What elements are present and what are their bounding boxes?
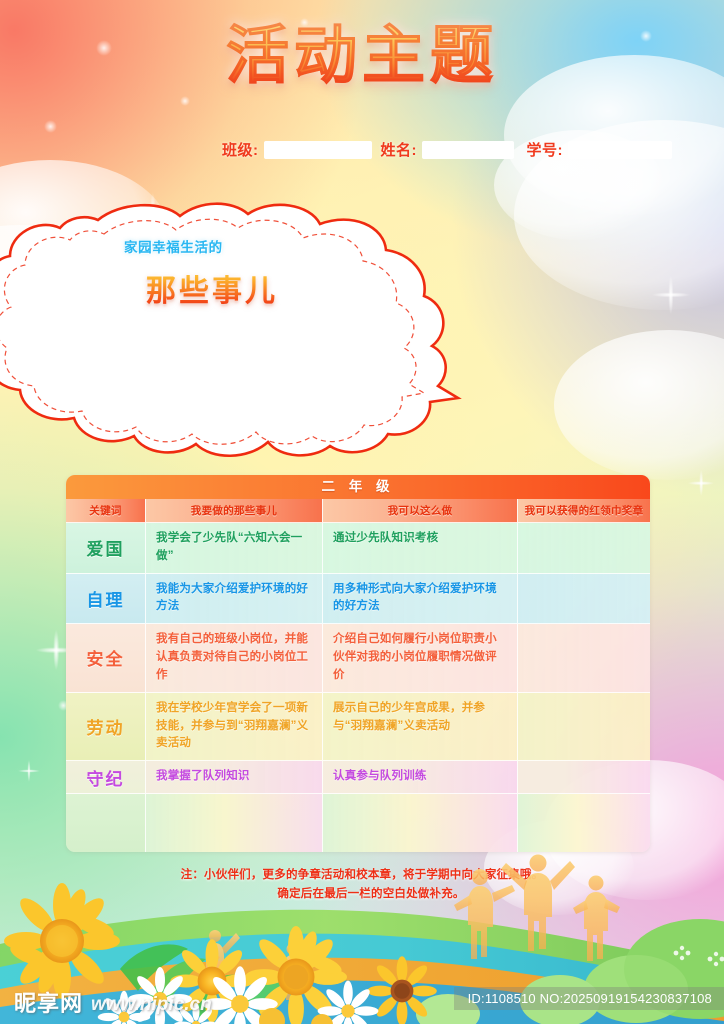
row-things-to-do[interactable] (146, 794, 323, 852)
row-badge[interactable] (518, 624, 650, 692)
bokeh-dot (180, 96, 190, 106)
row-how-to-do[interactable] (323, 794, 518, 852)
bubble-subtitle: 家园幸福生活的 (124, 236, 223, 256)
row-things-to-do: 我在学校少年宫学会了一项新技能，并参与到“羽翔嘉澜”义卖活动 (146, 693, 323, 761)
page-title: 活动主题 (226, 22, 498, 90)
sparkle-icon (652, 276, 690, 314)
name-input[interactable] (422, 141, 514, 159)
row-how-to-do: 介绍自己如何履行小岗位职责小伙伴对我的小岗位履职情况做评价 (323, 624, 518, 692)
class-input[interactable] (264, 141, 372, 159)
row-things-to-do: 我掌握了队列知识 (146, 761, 323, 794)
cloud-blob (554, 330, 724, 480)
col-header-badge: 我可以获得的红领巾奖章 (518, 499, 650, 523)
student-info-row: 班级: 姓名: 学号: (222, 139, 672, 160)
site-url: www.nipic.cn (91, 994, 212, 1016)
field-student-id: 学号: (527, 139, 673, 160)
watermark: 昵享网 www.nipic.cn (14, 986, 212, 1018)
row-badge[interactable] (518, 523, 650, 574)
cloud-shape (0, 198, 450, 458)
row-keyword: 劳动 (66, 693, 146, 761)
row-keyword: 爱国 (66, 523, 146, 574)
table-row: 守纪 我掌握了队列知识 认真参与队列训练 (66, 761, 650, 794)
student-id-input[interactable] (568, 141, 672, 159)
name-label: 姓名: (380, 139, 417, 160)
col-header-keyword: 关键词 (66, 499, 146, 523)
grade-table: 二 年 级 关键词 我要做的那些事儿 我可以这么做 我可以获得的红领巾奖章 爱国… (66, 475, 650, 852)
row-badge[interactable] (518, 693, 650, 761)
row-badge[interactable] (518, 574, 650, 625)
row-how-to-do: 用多种形式向大家介绍爱护环境的好方法 (323, 574, 518, 625)
field-name: 姓名: (380, 139, 514, 160)
row-how-to-do: 展示自己的少年宫成果，并参与“羽翔嘉澜”义卖活动 (323, 693, 518, 761)
row-how-to-do: 认真参与队列训练 (323, 761, 518, 794)
sparkle-icon (18, 760, 40, 782)
table-row-blank (66, 794, 650, 852)
field-class: 班级: (222, 139, 372, 160)
student-id-label: 学号: (527, 139, 564, 160)
col-header-how-to-do: 我可以这么做 (323, 499, 518, 523)
sunflower (4, 883, 120, 999)
table-row: 安全 我有自己的班级小岗位，并能认真负责对待自己的小岗位工作 介绍自己如何履行小… (66, 624, 650, 692)
table-title: 二 年 级 (66, 475, 650, 499)
table-header-row: 关键词 我要做的那些事儿 我可以这么做 我可以获得的红领巾奖章 (66, 499, 650, 523)
class-label: 班级: (222, 139, 259, 160)
bokeh-dot (44, 120, 57, 133)
sparkle-icon (688, 470, 714, 496)
row-keyword: 自理 (66, 574, 146, 625)
row-keyword: 守纪 (66, 761, 146, 794)
row-badge[interactable] (518, 794, 650, 852)
row-things-to-do: 我有自己的班级小岗位，并能认真负责对待自己的小岗位工作 (146, 624, 323, 692)
table-row: 劳动 我在学校少年宫学会了一项新技能，并参与到“羽翔嘉澜”义卖活动 展示自己的少… (66, 693, 650, 761)
row-keyword: 安全 (66, 624, 146, 692)
image-id-bar: ID:1108510 NO:20250919154230837108 (454, 987, 724, 1010)
poster-canvas: 活动主题 班级: 姓名: 学号: 家园幸福生活的 那些事儿 二 年 级 关键词 … (0, 0, 724, 1024)
row-how-to-do: 通过少先队知识考核 (323, 523, 518, 574)
bubble-title: 那些事儿 (146, 266, 278, 310)
site-logo: 昵享网 (14, 986, 83, 1018)
row-things-to-do: 我学会了少先队“六知六会一做” (146, 523, 323, 574)
row-badge[interactable] (518, 761, 650, 794)
title-container: 活动主题 (0, 22, 724, 90)
row-keyword[interactable] (66, 794, 146, 852)
table-row: 爱国 我学会了少先队“六知六会一做” 通过少先队知识考核 (66, 523, 650, 574)
col-header-things-to-do: 我要做的那些事儿 (146, 499, 323, 523)
sunflower (367, 956, 437, 1024)
cloud-speech-bubble (0, 198, 450, 458)
table-row: 自理 我能为大家介绍爱护环境的好方法 用多种形式向大家介绍爱护环境的好方法 (66, 574, 650, 625)
row-things-to-do: 我能为大家介绍爱护环境的好方法 (146, 574, 323, 625)
